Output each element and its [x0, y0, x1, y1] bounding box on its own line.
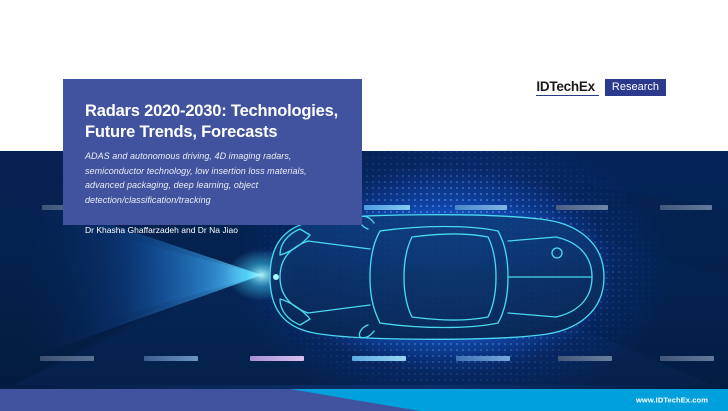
road-dash: [456, 356, 510, 361]
road-dash: [558, 356, 612, 361]
report-cover-slide: IDTechEx Research Radars 2020-2030: Tech…: [0, 0, 728, 411]
report-title: Radars 2020-2030: Technologies, Future T…: [85, 101, 340, 143]
road-dash: [364, 205, 410, 210]
road-dash: [455, 205, 507, 210]
report-authors: Dr Khasha Ghaffarzadeh and Dr Na Jiao: [85, 225, 340, 237]
road-dash: [556, 205, 608, 210]
road-dash: [660, 205, 712, 210]
title-panel: Radars 2020-2030: Technologies, Future T…: [63, 79, 362, 225]
road-dash: [144, 356, 198, 361]
logo-wordmark: IDTechEx: [536, 79, 599, 96]
road-dash: [250, 356, 304, 361]
footer-wedge-shape: [0, 389, 420, 411]
footer-website-link[interactable]: www.IDTechEx.com: [636, 396, 708, 405]
footer-bar: www.IDTechEx.com: [0, 389, 728, 411]
logo-research-tag: Research: [605, 79, 666, 96]
road-dash: [660, 356, 714, 361]
road-dash: [40, 356, 94, 361]
report-subtitle: ADAS and autonomous driving, 4D imaging …: [85, 149, 340, 207]
road-dash: [352, 356, 406, 361]
idtechex-logo[interactable]: IDTechEx Research: [536, 79, 666, 96]
